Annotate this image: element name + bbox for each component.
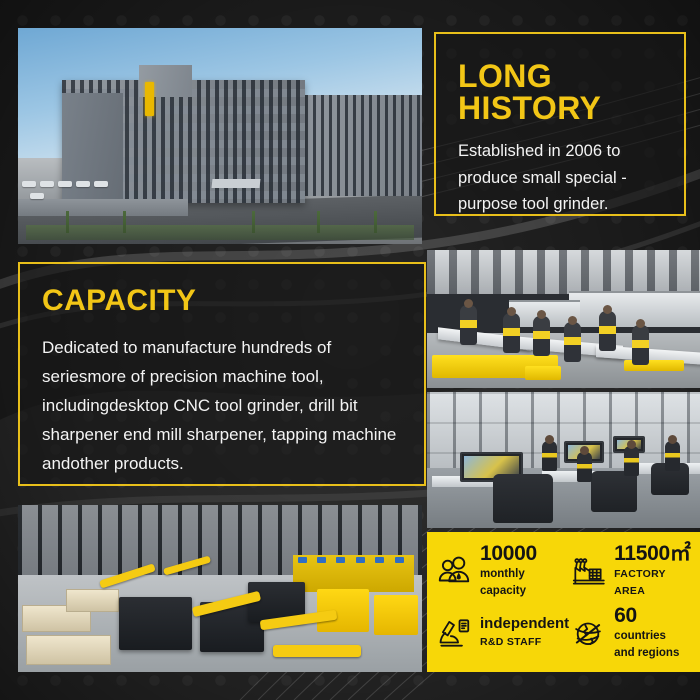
- engineer: [542, 441, 557, 471]
- stat-number: 60: [614, 604, 637, 627]
- tapping-machine-body: [119, 597, 192, 650]
- stat-line1: FACTORY AREA: [614, 568, 666, 597]
- stat-text: 60 countries and regions: [614, 605, 679, 661]
- capacity-body: Dedicated to manufacture hundreds of ser…: [42, 334, 404, 478]
- tree: [374, 211, 377, 233]
- stat-line1: R&D STAFF: [480, 636, 541, 648]
- stat-line2: capacity: [480, 585, 526, 597]
- adjacent-building: [305, 95, 422, 197]
- stat-line2: and regions: [614, 647, 679, 659]
- stat-line1: countries: [614, 630, 666, 642]
- globe-icon: [569, 614, 607, 652]
- stat-factory-area: 11500㎡ FACTORY AREA: [569, 543, 694, 599]
- worker: [460, 305, 477, 345]
- yellow-parts-pile: [525, 366, 560, 380]
- company-stats-panel: 10000 monthly capacity 11500㎡ FACTORY AR…: [427, 532, 700, 672]
- perimeter-wall: [18, 199, 188, 216]
- building-logo-sign: [145, 82, 154, 116]
- tree: [123, 211, 126, 233]
- photo-rd-office: [427, 392, 700, 528]
- landscaping-hedge: [26, 225, 414, 240]
- worker: [533, 316, 550, 356]
- machine-cabinet: [374, 595, 418, 635]
- stat-number: 10000: [480, 542, 537, 565]
- engineer: [624, 446, 639, 476]
- photo-office-building: [18, 28, 422, 244]
- stat-line1: monthly: [480, 568, 525, 580]
- factory-ceiling: [427, 250, 700, 294]
- long-history-heading: LONG HISTORY: [458, 60, 684, 124]
- stat-countries: 60 countries and regions: [569, 605, 694, 661]
- infographic-canvas: LONG HISTORY Established in 2006 to prod…: [0, 0, 700, 700]
- wooden-crate: [26, 635, 111, 665]
- articulated-arm: [273, 645, 362, 657]
- panel-capacity: CAPACITY Dedicated to manufacture hundre…: [18, 262, 426, 486]
- entrance-canopy: [211, 179, 260, 188]
- long-history-body: Established in 2006 to produce small spe…: [458, 138, 662, 218]
- worker: [632, 325, 649, 365]
- photo-assembly-line: [427, 250, 700, 388]
- capacity-heading: CAPACITY: [42, 286, 424, 316]
- microscope-icon: [435, 614, 473, 652]
- panel-long-history: LONG HISTORY Established in 2006 to prod…: [434, 32, 686, 216]
- wall-shelving: [569, 291, 700, 327]
- stat-text: independent R&D STAFF: [480, 616, 569, 650]
- stat-text: 10000 monthly capacity: [480, 543, 537, 599]
- tree: [317, 211, 320, 233]
- storage-rack: [293, 555, 414, 592]
- stat-rd-staff: independent R&D STAFF: [435, 614, 569, 652]
- photo-machine-showroom: [18, 505, 422, 672]
- stat-number: independent: [480, 615, 569, 632]
- stat-unit: ㎡: [670, 542, 691, 565]
- office-chair: [591, 471, 637, 512]
- office-chair: [493, 474, 553, 523]
- stat-monthly-capacity: 10000 monthly capacity: [435, 543, 569, 599]
- stat-text: 11500㎡ FACTORY AREA: [614, 543, 694, 599]
- wooden-crate: [66, 589, 119, 612]
- engineer: [577, 452, 592, 482]
- tree: [66, 211, 69, 233]
- factory-icon: [569, 552, 607, 590]
- worker: [503, 313, 520, 353]
- worker: [564, 322, 581, 362]
- worker: [599, 311, 616, 351]
- stat-number: 11500: [614, 542, 670, 565]
- engineer: [665, 441, 680, 471]
- tree: [252, 211, 255, 233]
- parking-lot-cars: [22, 181, 119, 196]
- people-icon: [435, 552, 473, 590]
